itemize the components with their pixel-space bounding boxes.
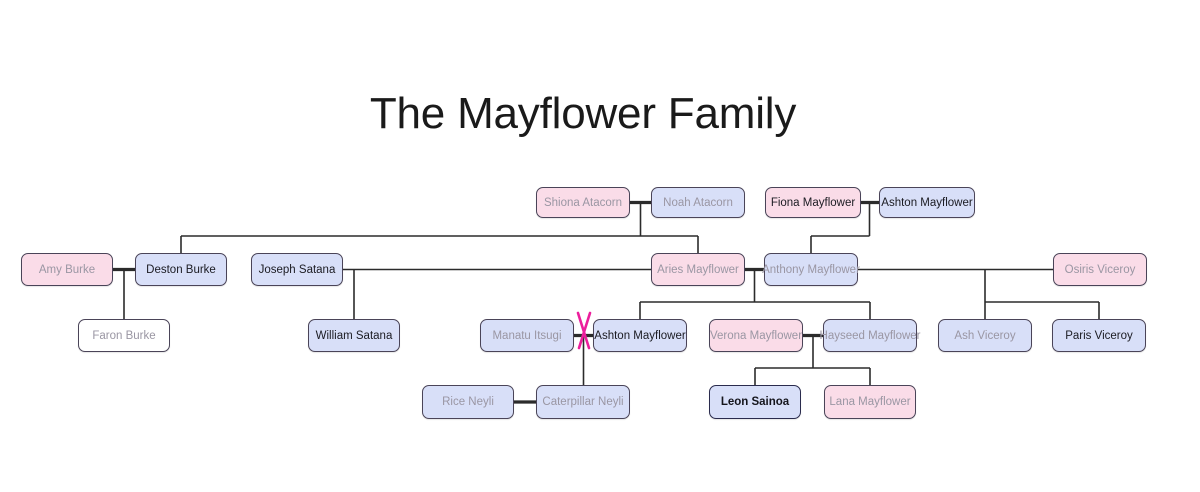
- person-node-rice[interactable]: Rice Neyli: [422, 385, 514, 419]
- edge-fiona-ashton: [861, 203, 879, 237]
- person-node-label: Verona Mayflower: [710, 329, 802, 343]
- person-node-lana[interactable]: Lana Mayflower: [824, 385, 916, 419]
- person-node-osiris[interactable]: Osiris Viceroy: [1053, 253, 1147, 286]
- person-node-ashton_sr[interactable]: Ashton Mayflower: [879, 187, 975, 218]
- divorce-marker-icon: [578, 313, 590, 348]
- page-title: The Mayflower Family: [0, 86, 1166, 142]
- person-node-label: Ashton Mayflower: [594, 329, 685, 343]
- person-node-leon[interactable]: Leon Sainoa: [709, 385, 801, 419]
- person-node-noah[interactable]: Noah Atacorn: [651, 187, 745, 218]
- person-node-label: Amy Burke: [39, 263, 95, 277]
- edge-verona-hayseed-children: [755, 368, 870, 385]
- person-node-deston[interactable]: Deston Burke: [135, 253, 227, 286]
- person-node-label: William Satana: [316, 329, 393, 343]
- edge-amy-deston: [113, 270, 135, 303]
- person-node-label: Paris Viceroy: [1065, 329, 1133, 343]
- edge-aries-anthony-children: [640, 302, 870, 319]
- person-node-label: Rice Neyli: [442, 395, 494, 409]
- person-node-william[interactable]: William Satana: [308, 319, 400, 352]
- person-node-label: Leon Sainoa: [721, 395, 789, 409]
- person-node-anthony[interactable]: Anthony Mayflower: [764, 253, 858, 286]
- person-node-verona[interactable]: Verona Mayflower: [709, 319, 803, 352]
- person-node-fiona[interactable]: Fiona Mayflower: [765, 187, 861, 218]
- person-node-label: Noah Atacorn: [663, 196, 733, 210]
- person-node-ash[interactable]: Ash Viceroy: [938, 319, 1032, 352]
- family-tree-canvas: The Mayflower Family: [0, 0, 1200, 492]
- edge-shiona-noah-children: [181, 236, 698, 253]
- edge-fiona-ashton-children: [811, 236, 870, 253]
- person-node-paris[interactable]: Paris Viceroy: [1052, 319, 1146, 352]
- person-node-label: Faron Burke: [92, 329, 155, 343]
- person-node-label: Ashton Mayflower: [881, 196, 972, 210]
- person-node-joseph[interactable]: Joseph Satana: [251, 253, 343, 286]
- person-node-hayseed[interactable]: Hayseed Mayflower: [823, 319, 917, 352]
- person-node-label: Fiona Mayflower: [771, 196, 855, 210]
- person-node-label: Aries Mayflower: [657, 263, 739, 277]
- person-node-label: Caterpillar Neyli: [542, 395, 623, 409]
- person-node-label: Lana Mayflower: [829, 395, 910, 409]
- person-node-label: Anthony Mayflower: [762, 263, 860, 277]
- person-node-label: Joseph Satana: [259, 263, 336, 277]
- person-node-label: Ash Viceroy: [954, 329, 1015, 343]
- person-node-amy[interactable]: Amy Burke: [21, 253, 113, 286]
- person-node-label: Hayseed Mayflower: [820, 329, 921, 343]
- person-node-label: Deston Burke: [146, 263, 216, 277]
- person-node-label: Shiona Atacorn: [544, 196, 622, 210]
- person-node-label: Osiris Viceroy: [1065, 263, 1136, 277]
- person-node-label: Manatu Itsugi: [492, 329, 561, 343]
- person-node-aries[interactable]: Aries Mayflower: [651, 253, 745, 286]
- person-node-manatu[interactable]: Manatu Itsugi: [480, 319, 574, 352]
- person-node-ashton_jr[interactable]: Ashton Mayflower: [593, 319, 687, 352]
- person-node-shiona[interactable]: Shiona Atacorn: [536, 187, 630, 218]
- person-node-faron[interactable]: Faron Burke: [78, 319, 170, 352]
- edge-shiona-noah: [630, 203, 651, 237]
- edge-manatu-ashton: [574, 336, 593, 386]
- person-node-caterpillar[interactable]: Caterpillar Neyli: [536, 385, 630, 419]
